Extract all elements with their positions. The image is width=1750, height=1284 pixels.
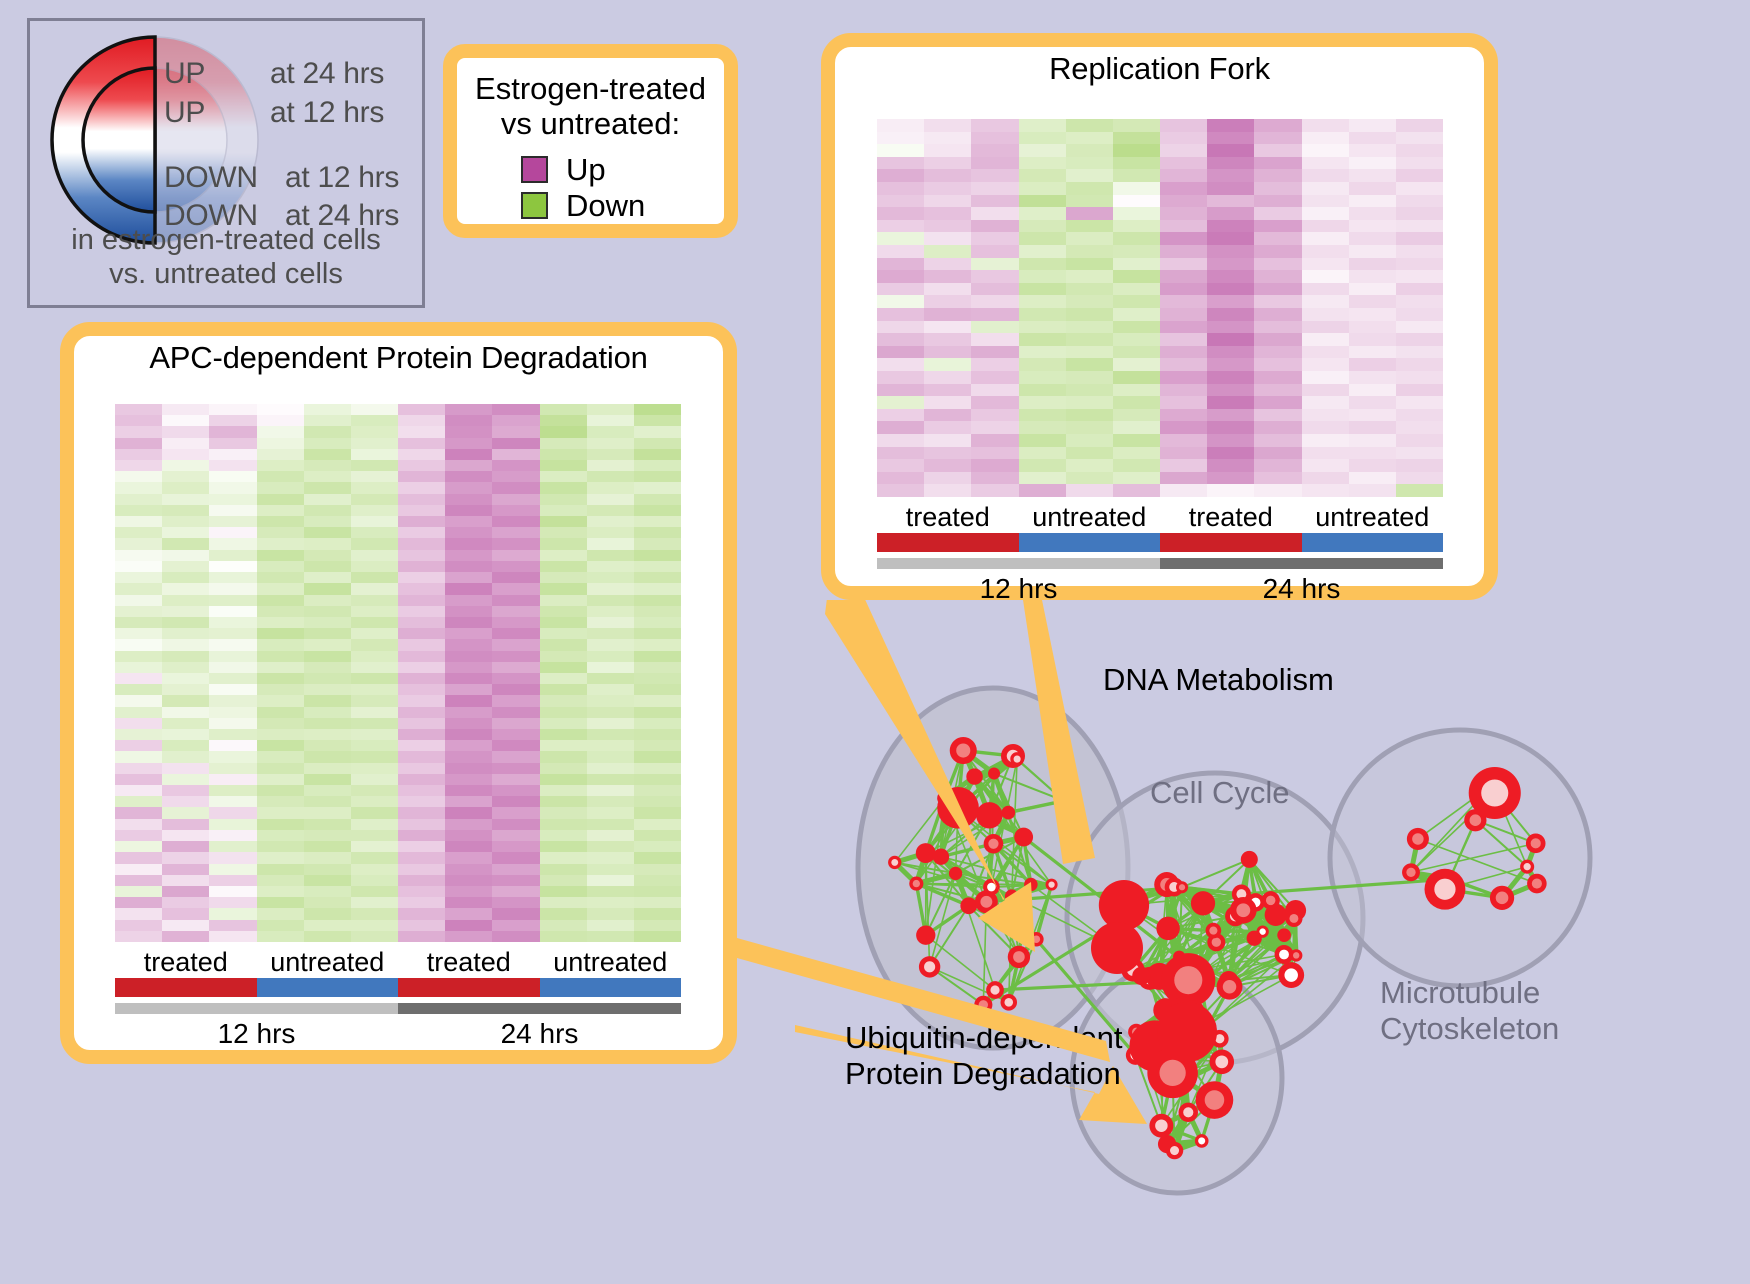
heatmap-cell [351, 415, 398, 426]
node-inner-fill [1209, 927, 1217, 935]
heatmap-cell [492, 807, 539, 818]
heatmap-cell [924, 258, 971, 271]
network-node[interactable] [984, 834, 1004, 854]
heatmap-cell [492, 695, 539, 706]
heatmap-cell [115, 740, 162, 751]
heatmap-cell [1349, 384, 1396, 397]
heatmap-cell [1160, 132, 1207, 145]
heatmap-cell [877, 346, 924, 359]
heatmap-cell [351, 763, 398, 774]
heatmap-cell [877, 144, 924, 157]
heatmap-cell [587, 617, 634, 628]
heatmap-cell [634, 886, 681, 897]
heatmap-cell [1019, 195, 1066, 208]
network-node[interactable] [1000, 994, 1017, 1011]
heatmap-cell [1302, 333, 1349, 346]
heatmap-cell [398, 897, 445, 908]
cluster-label-dna-metabolism: DNA Metabolism [1103, 662, 1334, 698]
heatmap-cell [209, 908, 256, 919]
heatmap-cell [398, 908, 445, 919]
axis-group-bar [540, 978, 682, 997]
heatmap-cell [445, 505, 492, 516]
network-node[interactable] [1241, 851, 1258, 868]
heatmap-cell [1019, 371, 1066, 384]
heatmap-cell [304, 606, 351, 617]
network-node[interactable] [976, 802, 1002, 828]
heatmap-cell [445, 785, 492, 796]
network-node[interactable] [1402, 863, 1420, 881]
microtubule-label-line-2: Cytoskeleton [1380, 1011, 1559, 1047]
heatmap-cell [398, 830, 445, 841]
heatmap-cell [1066, 484, 1113, 497]
heatmap-cell [1349, 232, 1396, 245]
heatmap-cell [351, 426, 398, 437]
replication-fork-time-bars [877, 558, 1443, 569]
axis-group-bar [1160, 533, 1302, 552]
heatmap-cell [1396, 207, 1443, 220]
heatmap-cell [634, 617, 681, 628]
heatmap-cell [1349, 434, 1396, 447]
gradient-legend-box: UP at 24 hrs UP at 12 hrs DOWN at 12 hrs… [27, 18, 425, 308]
heatmap-cell [1396, 283, 1443, 296]
heatmap-cell [540, 908, 587, 919]
heatmap-cell [162, 830, 209, 841]
network-node[interactable] [988, 768, 1000, 780]
heatmap-cell [540, 886, 587, 897]
heatmap-cell [634, 875, 681, 886]
heatmap-cell [587, 449, 634, 460]
heatmap-cell [162, 931, 209, 942]
heatmap-cell [304, 684, 351, 695]
network-node[interactable] [1156, 917, 1179, 940]
network-node[interactable] [916, 843, 936, 863]
heatmap-cell [1302, 396, 1349, 409]
node-outer-ring [916, 926, 935, 945]
heatmap-cell [634, 908, 681, 919]
network-node[interactable] [1262, 891, 1280, 909]
heatmap-cell [924, 270, 971, 283]
legend-up-24-label: UP [164, 57, 205, 91]
heatmap-cell [115, 729, 162, 740]
network-node[interactable] [919, 956, 940, 977]
network-node[interactable] [1057, 794, 1070, 807]
heatmap-cell [304, 774, 351, 785]
network-node[interactable] [1196, 1081, 1234, 1119]
heatmap-cell [634, 516, 681, 527]
heatmap-cell [1254, 195, 1301, 208]
heatmap-cell [634, 662, 681, 673]
heatmap-cell [445, 875, 492, 886]
heatmap-cell [587, 651, 634, 662]
heatmap-cell [162, 639, 209, 650]
heatmap-cell [209, 864, 256, 875]
heatmap-cell [304, 662, 351, 673]
axis-group-bar [877, 533, 1019, 552]
heatmap-cell [540, 751, 587, 762]
heatmap-cell [445, 651, 492, 662]
heatmap-cell [634, 550, 681, 561]
heatmap-cell [398, 438, 445, 449]
heatmap-cell [162, 774, 209, 785]
network-node[interactable] [1166, 1142, 1183, 1159]
heatmap-cell [398, 538, 445, 549]
network-node[interactable] [1206, 923, 1222, 939]
heatmap-cell [162, 415, 209, 426]
network-node[interactable] [1046, 879, 1058, 891]
heatmap-cell [398, 482, 445, 493]
heatmap-cell [351, 494, 398, 505]
heatmap-cell [540, 583, 587, 594]
heatmap-cell [162, 695, 209, 706]
heatmap-cell [1254, 346, 1301, 359]
network-node[interactable] [1010, 752, 1024, 766]
network-node[interactable] [1277, 928, 1291, 942]
heatmap-cell [1019, 245, 1066, 258]
heatmap-cell [398, 651, 445, 662]
network-node[interactable] [1469, 767, 1521, 819]
heatmap-cell [492, 751, 539, 762]
heatmap-cell [1066, 321, 1113, 334]
key-row-down: Down [521, 187, 724, 223]
heatmap-cell [304, 830, 351, 841]
heatmap-cell [1207, 182, 1254, 195]
heatmap-cell [924, 358, 971, 371]
heatmap-cell [1066, 333, 1113, 346]
heatmap-cell [1396, 484, 1443, 497]
heatmap-cell [257, 617, 304, 628]
heatmap-cell [877, 295, 924, 308]
heatmap-cell [209, 796, 256, 807]
network-node[interactable] [1157, 1002, 1217, 1062]
network-node[interactable] [1490, 886, 1514, 910]
heatmap-cell [492, 796, 539, 807]
heatmap-cell [257, 875, 304, 886]
network-node[interactable] [986, 981, 1004, 999]
heatmap-cell [1396, 434, 1443, 447]
heatmap-cell [877, 245, 924, 258]
heatmap-cell [1349, 472, 1396, 485]
network-node[interactable] [950, 737, 977, 764]
heatmap-cell [540, 662, 587, 673]
heatmap-cell [1019, 182, 1066, 195]
heatmap-cell [115, 774, 162, 785]
heatmap-cell [115, 516, 162, 527]
heatmap-cell [304, 819, 351, 830]
heatmap-cell [1254, 144, 1301, 157]
heatmap-cell [257, 639, 304, 650]
heatmap-cell [115, 707, 162, 718]
network-node[interactable] [1290, 949, 1302, 961]
heatmap-cell [1113, 371, 1160, 384]
heatmap-cell [492, 886, 539, 897]
network-node[interactable] [1278, 962, 1304, 988]
heatmap-cell [587, 718, 634, 729]
heatmap-cell [1113, 333, 1160, 346]
heatmap-cell [351, 751, 398, 762]
heatmap-cell [304, 841, 351, 852]
heatmap-cell [445, 662, 492, 673]
heatmap-cell [540, 920, 587, 931]
heatmap-cell [445, 494, 492, 505]
heatmap-cell [1207, 207, 1254, 220]
heatmap-cell [877, 308, 924, 321]
heatmap-cell [1254, 409, 1301, 422]
heatmap-cell [115, 886, 162, 897]
heatmap-cell [877, 409, 924, 422]
heatmap-cell [304, 471, 351, 482]
network-node[interactable] [1247, 931, 1262, 946]
heatmap-cell [587, 460, 634, 471]
network-node[interactable] [1099, 880, 1149, 930]
heatmap-cell [445, 684, 492, 695]
heatmap-cell [1066, 207, 1113, 220]
heatmap-cell [587, 807, 634, 818]
network-node[interactable] [1210, 1050, 1235, 1075]
heatmap-cell [351, 639, 398, 650]
heatmap-cell [1113, 232, 1160, 245]
heatmap-cell [587, 864, 634, 875]
heatmap-cell [877, 220, 924, 233]
heatmap-cell [351, 460, 398, 471]
heatmap-cell [1066, 434, 1113, 447]
heatmap-cell [634, 482, 681, 493]
heatmap-cell [209, 415, 256, 426]
network-node[interactable] [1407, 828, 1429, 850]
legend-up-24-time: at 24 hrs [270, 57, 384, 91]
heatmap-cell [1207, 169, 1254, 182]
heatmap-cell [587, 662, 634, 673]
network-node[interactable] [1527, 874, 1547, 894]
heatmap-cell [257, 482, 304, 493]
heatmap-cell [1254, 220, 1301, 233]
heatmap-cell [1113, 472, 1160, 485]
network-node[interactable] [1149, 1114, 1173, 1138]
heatmap-cell [634, 729, 681, 740]
heatmap-cell [162, 841, 209, 852]
network-node[interactable] [1132, 967, 1150, 985]
heatmap-cell [492, 494, 539, 505]
heatmap-cell [1254, 484, 1301, 497]
heatmap-cell [1207, 232, 1254, 245]
network-node[interactable] [1191, 891, 1215, 915]
heatmap-cell [1160, 258, 1207, 271]
heatmap-cell [209, 695, 256, 706]
heatmap-cell [540, 830, 587, 841]
heatmap-cell [115, 751, 162, 762]
heatmap-cell [1396, 346, 1443, 359]
heatmap-cell [492, 438, 539, 449]
heatmap-cell [587, 796, 634, 807]
heatmap-cell [971, 232, 1018, 245]
heatmap-cell [398, 550, 445, 561]
heatmap-cell [1396, 333, 1443, 346]
heatmap-cell [1019, 220, 1066, 233]
heatmap-cell [1019, 207, 1066, 220]
network-node[interactable] [888, 856, 901, 869]
network-node[interactable] [909, 877, 923, 891]
heatmap-cell [1302, 459, 1349, 472]
heatmap-cell [257, 819, 304, 830]
heatmap-cell [1302, 384, 1349, 397]
network-node[interactable] [1526, 834, 1546, 854]
heatmap-cell [398, 426, 445, 437]
heatmap-cell [1349, 220, 1396, 233]
heatmap-cell [209, 729, 256, 740]
network-node[interactable] [1195, 1134, 1209, 1148]
heatmap-cell [398, 606, 445, 617]
heatmap-cell [1113, 182, 1160, 195]
heatmap-cell [398, 684, 445, 695]
heatmap-cell [1160, 207, 1207, 220]
heatmap-cell [492, 572, 539, 583]
heatmap-cell [115, 830, 162, 841]
heatmap-cell [1113, 157, 1160, 170]
network-node[interactable] [983, 879, 1000, 896]
network-node[interactable] [1285, 910, 1302, 927]
heatmap-cell [971, 321, 1018, 334]
heatmap-cell [1066, 132, 1113, 145]
heatmap-cell [351, 684, 398, 695]
down-swatch-label: Down [566, 190, 645, 221]
heatmap-cell [1019, 232, 1066, 245]
heatmap-cell [398, 561, 445, 572]
heatmap-cell [1019, 270, 1066, 283]
network-node[interactable] [966, 768, 982, 784]
heatmap-cell [540, 841, 587, 852]
heatmap-cell [1113, 258, 1160, 271]
heatmap-cell [1396, 270, 1443, 283]
heatmap-cell [209, 740, 256, 751]
heatmap-cell [351, 886, 398, 897]
network-node[interactable] [1520, 860, 1534, 874]
network-node[interactable] [960, 897, 977, 914]
heatmap-cell [1254, 207, 1301, 220]
heatmap-cell [1302, 207, 1349, 220]
heatmap-cell [587, 774, 634, 785]
heatmap-cell [162, 438, 209, 449]
network-node[interactable] [1002, 806, 1016, 820]
network-node[interactable] [1176, 881, 1188, 893]
heatmap-cell [924, 409, 971, 422]
heatmap-cell [209, 482, 256, 493]
heatmap-cell [209, 572, 256, 583]
heatmap-cell [924, 232, 971, 245]
heatmap-cell [1254, 295, 1301, 308]
heatmap-cell [1160, 157, 1207, 170]
heatmap-cell [304, 897, 351, 908]
heatmap-cell [1066, 169, 1113, 182]
heatmap-cell [209, 438, 256, 449]
heatmap-cell [257, 673, 304, 684]
node-inner-fill [1289, 914, 1298, 923]
heatmap-cell [1019, 396, 1066, 409]
heatmap-cell [445, 561, 492, 572]
heatmap-cell [351, 471, 398, 482]
axis-time-bar [398, 1003, 681, 1014]
heatmap-cell [1207, 245, 1254, 258]
heatmap-cell [540, 505, 587, 516]
network-node[interactable] [1091, 922, 1143, 974]
heatmap-cell [115, 897, 162, 908]
heatmap-cell [1349, 295, 1396, 308]
node-inner-fill [891, 859, 898, 866]
heatmap-cell [209, 662, 256, 673]
heatmap-cell [257, 830, 304, 841]
heatmap-cell [398, 931, 445, 942]
network-node[interactable] [1179, 1103, 1198, 1122]
heatmap-cell [587, 415, 634, 426]
network-node[interactable] [1425, 869, 1466, 910]
heatmap-cell [257, 404, 304, 415]
heatmap-cell [1396, 321, 1443, 334]
heatmap-cell [1066, 295, 1113, 308]
heatmap-cell [115, 931, 162, 942]
axis-group-label: treated [115, 947, 257, 978]
heatmap-cell [1254, 333, 1301, 346]
heatmap-cell [1160, 220, 1207, 233]
heatmap-cell [540, 729, 587, 740]
heatmap-cell [257, 606, 304, 617]
heatmap-cell [1396, 295, 1443, 308]
heatmap-cell [587, 639, 634, 650]
heatmap-cell [1302, 169, 1349, 182]
node-inner-fill [1266, 896, 1276, 906]
replication-fork-group-labels: treateduntreatedtreateduntreated [877, 502, 1443, 533]
heatmap-cell [1396, 132, 1443, 145]
heatmap-cell [1066, 371, 1113, 384]
node-inner-fill [1434, 879, 1455, 900]
network-node[interactable] [1230, 897, 1257, 924]
network-node[interactable] [933, 849, 949, 865]
network-node[interactable] [916, 926, 935, 945]
heatmap-cell [304, 707, 351, 718]
heatmap-cell [1160, 371, 1207, 384]
node-inner-fill [1406, 868, 1415, 877]
node-outer-ring [976, 802, 1002, 828]
heatmap-cell [209, 538, 256, 549]
network-node[interactable] [1217, 974, 1243, 1000]
heatmap-cell [1019, 484, 1066, 497]
heatmap-cell [1349, 308, 1396, 321]
heatmap-cell [257, 841, 304, 852]
heatmap-cell [492, 897, 539, 908]
heatmap-cell [877, 182, 924, 195]
legend-up-12-label: UP [164, 96, 205, 130]
heatmap-cell [492, 583, 539, 594]
heatmap-cell [634, 695, 681, 706]
heatmap-cell [1019, 321, 1066, 334]
network-node[interactable] [974, 996, 992, 1014]
heatmap-cell [587, 426, 634, 437]
heatmap-cell [1113, 459, 1160, 472]
heatmap-cell [540, 617, 587, 628]
heatmap-cell [1254, 245, 1301, 258]
heatmap-cell [587, 550, 634, 561]
heatmap-cell [1066, 409, 1113, 422]
heatmap-cell [398, 707, 445, 718]
heatmap-cell [209, 639, 256, 650]
heatmap-cell [540, 852, 587, 863]
heatmap-cell [1254, 270, 1301, 283]
network-node[interactable] [1008, 946, 1030, 968]
heatmap-cell [398, 796, 445, 807]
heatmap-cell [115, 673, 162, 684]
network-node[interactable] [949, 867, 962, 880]
heatmap-cell [1113, 169, 1160, 182]
network-node[interactable] [1014, 828, 1033, 847]
heatmap-cell [115, 550, 162, 561]
heatmap-cell [257, 628, 304, 639]
